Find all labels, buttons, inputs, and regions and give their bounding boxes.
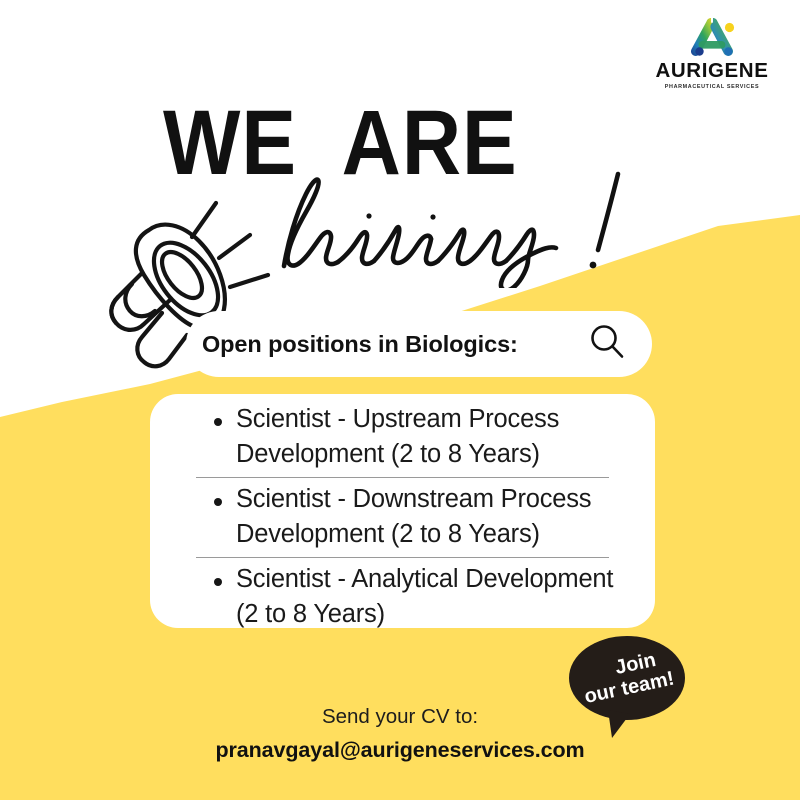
list-divider (196, 477, 609, 478)
bullet-icon (214, 578, 222, 586)
brand-name: AURIGENE (646, 61, 778, 82)
list-divider (196, 557, 609, 558)
bullet-icon (214, 498, 222, 506)
search-icon[interactable] (588, 323, 626, 366)
list-item[interactable]: Scientist - Upstream Process Development… (150, 402, 655, 472)
search-bar[interactable]: Open positions in Biologics: (186, 311, 652, 377)
position-title: Scientist - Upstream Process Development… (200, 402, 637, 472)
contact-email[interactable]: pranavgayal@aurigeneservices.com (0, 738, 800, 763)
send-cv-label: Send your CV to: (0, 705, 800, 729)
list-item[interactable]: Scientist - Downstream Process Developme… (150, 482, 655, 552)
search-label: Open positions in Biologics: (202, 331, 518, 358)
position-title: Scientist - Downstream Process Developme… (200, 482, 637, 552)
position-title: Scientist - Analytical Development (2 to… (200, 562, 637, 632)
list-item[interactable]: Scientist - Analytical Development (2 to… (150, 562, 655, 632)
aurigene-a-logo-icon (683, 14, 741, 58)
script-hiring-word (262, 168, 682, 288)
hiring-poster: AURIGENE PHARMACEUTICAL SERVICES WE ARE (0, 0, 800, 800)
brand-tagline: PHARMACEUTICAL SERVICES (646, 85, 778, 90)
brand-logo: AURIGENE PHARMACEUTICAL SERVICES (646, 14, 778, 90)
open-positions-card: Scientist - Upstream Process Development… (150, 394, 655, 628)
bullet-icon (214, 418, 222, 426)
